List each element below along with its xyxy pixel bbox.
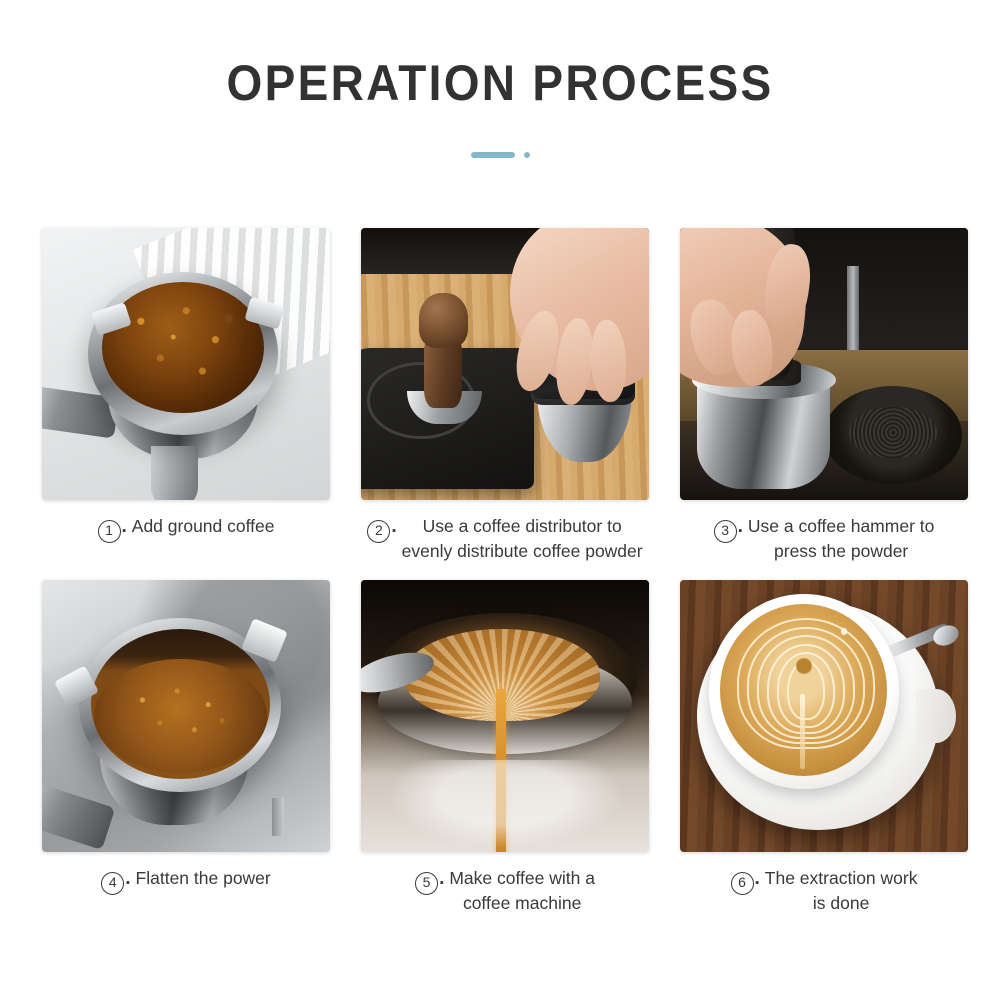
step-text-5: Make coffee with a coffee machine <box>449 866 595 916</box>
step-card-5: 5. Make coffee with a coffee machine <box>361 580 649 924</box>
step-caption-2: 2. Use a coffee distributor to evenly di… <box>361 514 649 572</box>
header: OPERATION PROCESS <box>0 0 1000 158</box>
step-image-3 <box>680 228 968 500</box>
step-card-6: 6. The extraction work is done <box>680 580 968 924</box>
step-number-circle-5: 5 <box>415 872 438 895</box>
step-image-5 <box>361 580 649 852</box>
step-number-period-2: . <box>391 514 396 539</box>
step-number-3: 3. <box>714 514 743 540</box>
step-number-period-5: . <box>439 866 444 891</box>
step-text-line-2: coffee machine <box>463 893 581 913</box>
steps-grid: 1. Add ground coffee <box>42 228 968 924</box>
step-image-1 <box>42 228 330 500</box>
flattened-coffee-bed-illustration <box>42 580 330 852</box>
step-number-circle-6: 6 <box>731 872 754 895</box>
step-card-1: 1. Add ground coffee <box>42 228 330 572</box>
step-card-3: 3. Use a coffee hammer to press the powd… <box>680 228 968 572</box>
step-text-line-1: Use a coffee distributor to <box>423 516 622 536</box>
step-number-5: 5. <box>415 866 444 892</box>
coffee-hammer-tamping-illustration <box>680 228 968 500</box>
step-number-period-4: . <box>125 866 130 891</box>
step-caption-3: 3. Use a coffee hammer to press the powd… <box>680 514 968 572</box>
step-image-6 <box>680 580 968 852</box>
step-number-circle-2: 2 <box>367 520 390 543</box>
step-text-1: Add ground coffee <box>132 514 275 539</box>
step-number-6: 6. <box>731 866 760 892</box>
step-text-3: Use a coffee hammer to press the powder <box>748 514 934 564</box>
step-number-4: 4. <box>101 866 130 892</box>
espresso-extraction-illustration <box>361 580 649 852</box>
divider-dot <box>524 152 530 158</box>
coffee-distributor-illustration <box>361 228 649 500</box>
step-number-period-3: . <box>738 514 743 539</box>
step-image-4 <box>42 580 330 852</box>
step-text-line-1: Flatten the power <box>136 868 271 888</box>
step-text-line-2: press the powder <box>774 541 908 561</box>
step-text-2: Use a coffee distributor to evenly distr… <box>402 514 643 564</box>
step-caption-6: 6. The extraction work is done <box>680 866 968 924</box>
portafilter-ground-coffee-illustration <box>42 228 330 500</box>
step-text-6: The extraction work is done <box>765 866 918 916</box>
step-number-circle-4: 4 <box>101 872 124 895</box>
step-text-line-1: Make coffee with a <box>449 868 595 888</box>
step-text-line-1: Add ground coffee <box>132 516 275 536</box>
step-card-2: 2. Use a coffee distributor to evenly di… <box>361 228 649 572</box>
step-number-circle-3: 3 <box>714 520 737 543</box>
step-text-4: Flatten the power <box>136 866 271 891</box>
step-card-4: 4. Flatten the power <box>42 580 330 924</box>
step-text-line-1: Use a coffee hammer to <box>748 516 934 536</box>
latte-art-cup-illustration <box>680 580 968 852</box>
page-title: OPERATION PROCESS <box>40 58 960 108</box>
step-caption-4: 4. Flatten the power <box>42 866 330 924</box>
operation-process-infographic: OPERATION PROCESS <box>0 0 1000 1000</box>
divider-bar <box>471 152 515 158</box>
step-number-1: 1. <box>98 514 127 540</box>
step-number-circle-1: 1 <box>98 520 121 543</box>
title-divider <box>0 152 1000 158</box>
step-caption-5: 5. Make coffee with a coffee machine <box>361 866 649 924</box>
step-image-2 <box>361 228 649 500</box>
step-caption-1: 1. Add ground coffee <box>42 514 330 572</box>
step-text-line-2: evenly distribute coffee powder <box>402 541 643 561</box>
step-text-line-1: The extraction work <box>765 868 918 888</box>
step-number-2: 2. <box>367 514 396 540</box>
step-text-line-2: is done <box>813 893 869 913</box>
step-number-period-1: . <box>122 514 127 539</box>
step-number-period-6: . <box>755 866 760 891</box>
